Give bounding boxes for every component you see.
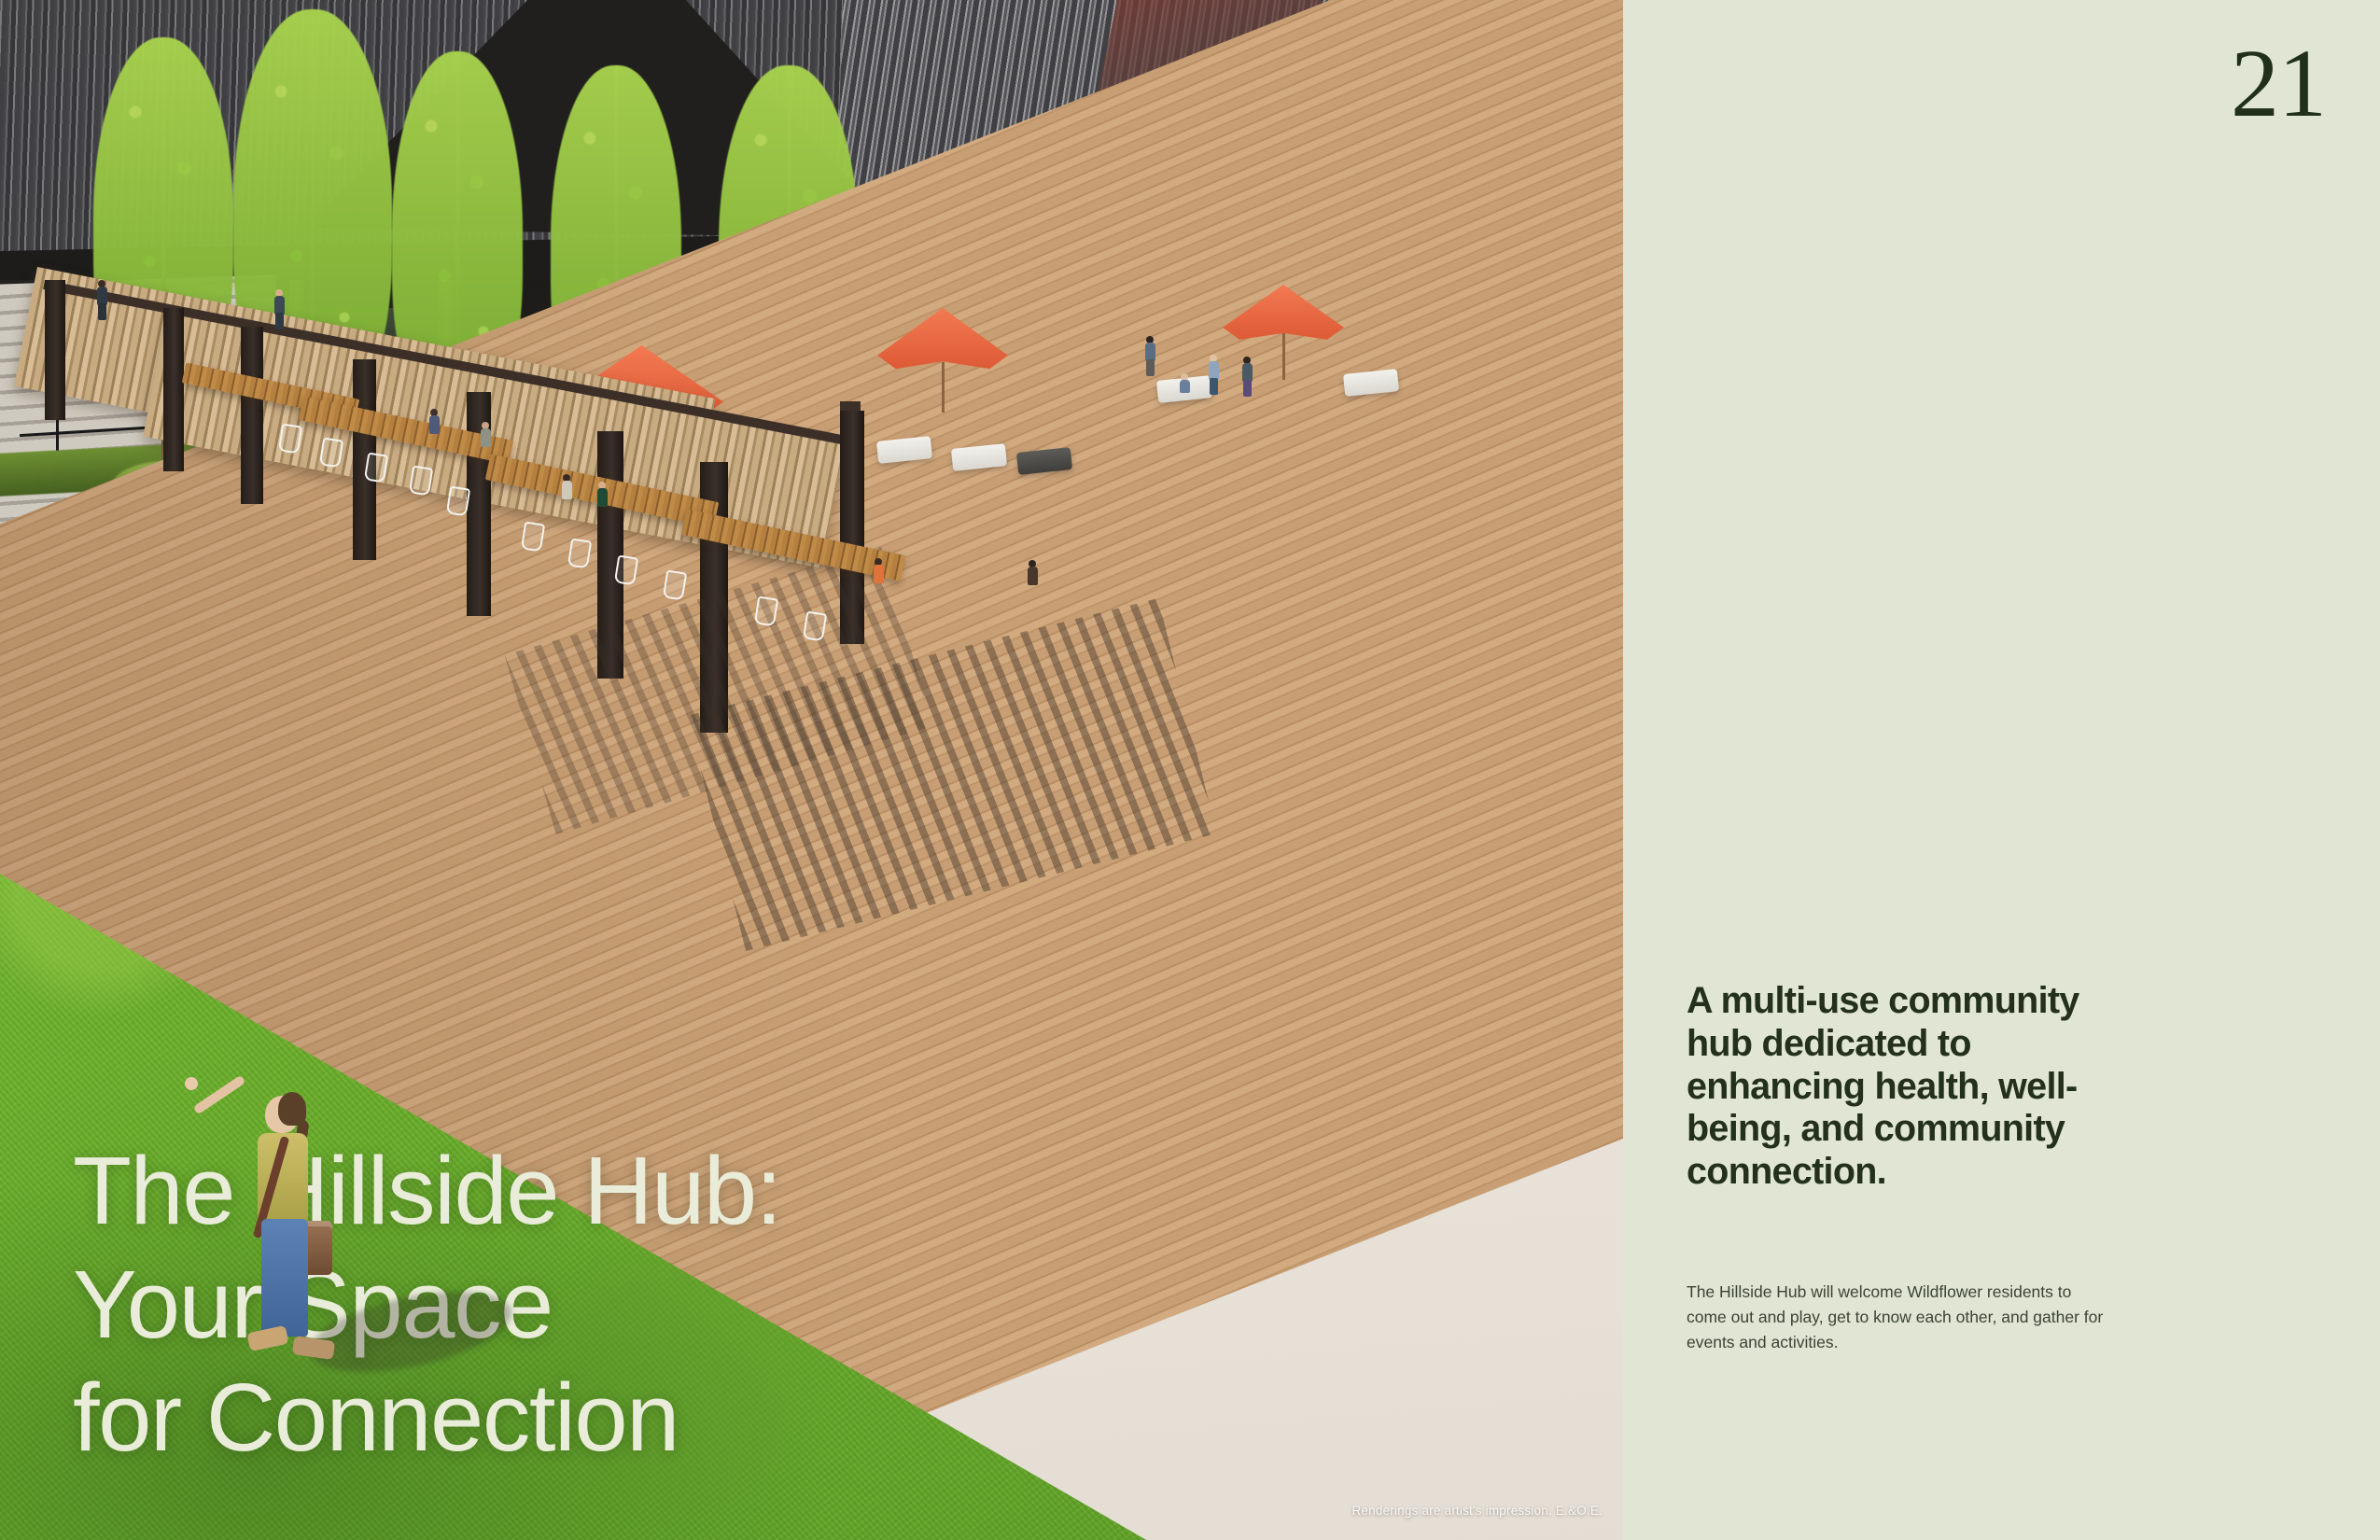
pergola-post [241, 327, 263, 504]
person-dining [476, 422, 495, 467]
person-walking-foreground [245, 1101, 329, 1381]
rendering-scene: The Hillside Hub: Your Space for Connect… [0, 0, 1623, 1540]
page-number: 21 [2231, 35, 2326, 133]
person-walking [1141, 336, 1159, 388]
person-dining [425, 409, 443, 452]
text-panel: 21 A multi-use community hub dedicated t… [1623, 0, 2380, 1540]
person-shoe [246, 1325, 288, 1351]
person-legs [275, 313, 284, 329]
person-terrace [93, 280, 110, 329]
disclaimer-text: Renderings are artist's impression. E.&O… [1351, 1504, 1603, 1518]
person-legs [98, 303, 106, 320]
person-torso [1145, 343, 1155, 361]
person-torso [274, 296, 285, 315]
person-dining [556, 474, 577, 526]
panel-content: A multi-use community hub dedicated to e… [1687, 980, 2107, 1354]
person-legs [1243, 380, 1252, 397]
rendering-image-panel: The Hillside Hub: Your Space for Connect… [0, 0, 1623, 1540]
person-dining [1022, 560, 1043, 614]
person-torso [1028, 567, 1038, 585]
person-jeans [261, 1219, 308, 1337]
person-torso [97, 287, 107, 305]
umbrella-pole [1282, 333, 1285, 379]
person-torso [481, 428, 491, 447]
person-dining [868, 558, 889, 612]
person-child [1178, 373, 1191, 409]
person-torso [874, 565, 884, 583]
person-torso [429, 415, 440, 434]
person-walking [1204, 355, 1223, 409]
panel-lede: A multi-use community hub dedicated to e… [1687, 980, 2107, 1194]
person-legs [1210, 378, 1218, 395]
person-legs [1146, 359, 1155, 376]
person-torso [597, 488, 608, 507]
panel-paragraph: The Hillside Hub will welcome Wildflower… [1687, 1280, 2107, 1354]
person-hand [185, 1077, 198, 1090]
person-torso [1242, 363, 1253, 382]
person-torso [1209, 361, 1219, 380]
umbrella-pole [942, 362, 945, 413]
person-terrace [271, 289, 287, 338]
person-walking [1238, 357, 1256, 411]
patio-umbrella [877, 308, 1008, 406]
person-dining [592, 482, 612, 536]
person-torso [562, 481, 572, 499]
slide: The Hillside Hub: Your Space for Connect… [0, 0, 2380, 1540]
pergola-post [163, 308, 184, 471]
pergola-post [45, 280, 65, 420]
umbrella-canopy [877, 308, 1008, 369]
person-torso [1180, 380, 1190, 393]
umbrella-canopy [1223, 285, 1344, 340]
